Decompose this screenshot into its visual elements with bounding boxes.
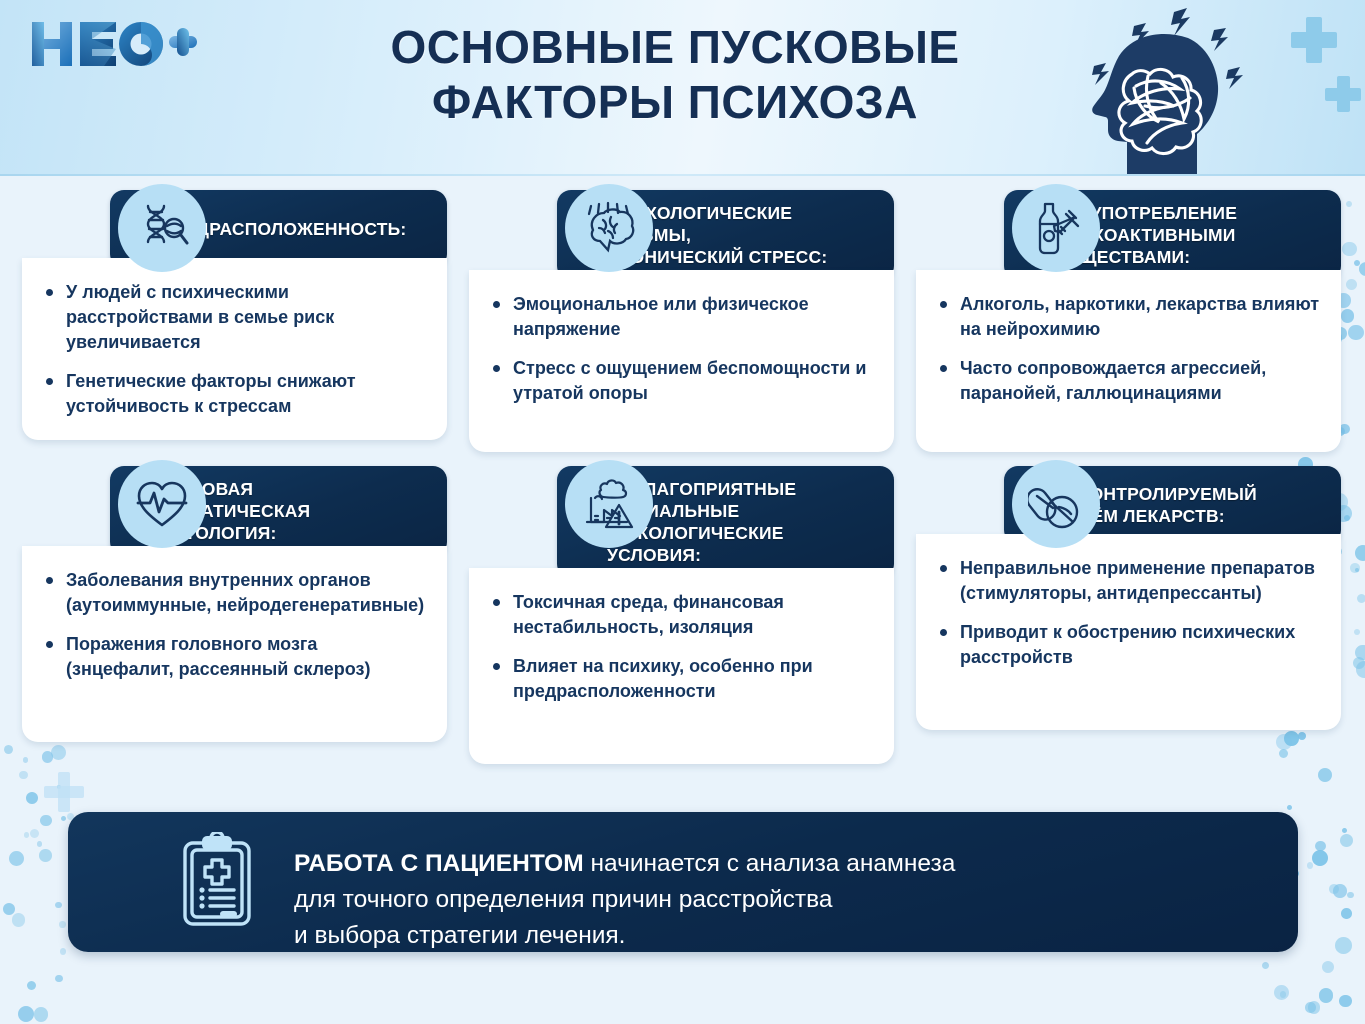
list-item: Алкоголь, наркотики, лекарства влияют на… — [934, 292, 1323, 342]
head-with-tangled-thoughts-icon — [1070, 2, 1260, 176]
banner-lead-text: РАБОТА С ПАЦИЕНТОМ — [294, 850, 584, 877]
decorative-plus-icon — [1337, 76, 1350, 112]
decorative-dot — [1312, 850, 1328, 866]
clipboard-medical-icon — [178, 832, 256, 933]
decorative-dot — [1318, 768, 1332, 782]
list-item: Эмоциональное или физическое напряжение — [487, 292, 876, 342]
factor-card: ПСИХОЛОГИЧЕСКИЕ ТРАВМЫ, ХРОНИЧЕСКИЙ СТРЕ… — [469, 190, 894, 452]
card-body: Заболевания внутренних органов (аутоимму… — [22, 546, 447, 742]
factor-card: ФОНОВАЯ СОМАТИЧЕСКАЯ ПАТОЛОГИЯ: Заболева… — [22, 466, 447, 764]
bullet-list: Эмоциональное или физическое напряжение … — [487, 292, 876, 406]
decorative-dot — [19, 771, 28, 780]
decorative-dot — [55, 975, 62, 982]
page-title-line-1: ОСНОВНЫЕ ПУСКОВЫЕ — [330, 20, 1020, 75]
decorative-dot — [59, 921, 65, 927]
list-item: Часто сопровождается агрессией, паранойе… — [934, 356, 1323, 406]
bullet-list: Неправильное применение препаратов (стим… — [934, 556, 1323, 670]
card-header: ФОНОВАЯ СОМАТИЧЕСКАЯ ПАТОЛОГИЯ: — [110, 466, 447, 556]
decorative-dot — [1322, 961, 1334, 973]
factor-card: НЕБЛАГОПРИЯТНЫЕ СОЦИАЛЬНЫЕ И ЭКОЛОГИЧЕСК… — [469, 466, 894, 764]
factor-card: ЗЛОУПОТРЕБЛЕНИЕ ПСИХОАКТИВНЫМИ ВЕЩЕСТВАМ… — [916, 190, 1341, 452]
bullet-list: У людей с психическими расстройствами в … — [40, 280, 429, 419]
decorative-dot — [30, 829, 39, 838]
list-item: У людей с психическими расстройствами в … — [40, 280, 429, 355]
decorative-dot — [1280, 991, 1286, 997]
page-title: ОСНОВНЫЕ ПУСКОВЫЕ ФАКТОРЫ ПСИХОЗА — [330, 20, 1020, 130]
list-item: Поражения головного мозга (знцефалит, ра… — [40, 632, 429, 682]
list-item: Влияет на психику, особенно при предрасп… — [487, 654, 876, 704]
bullet-list: Заболевания внутренних органов (аутоимму… — [40, 568, 429, 682]
decorative-dot — [27, 981, 37, 991]
list-item: Заболевания внутренних органов (аутоимму… — [40, 568, 429, 618]
decorative-dot — [1342, 828, 1347, 833]
bullet-list: Токсичная среда, финансовая нестабильнос… — [487, 590, 876, 704]
decorative-dot — [3, 903, 15, 915]
dna-magnifier-icon — [118, 184, 206, 272]
card-body: У людей с психическими расстройствами в … — [22, 258, 447, 440]
decorative-dot — [1347, 892, 1354, 899]
decorative-plus-icon — [58, 772, 71, 812]
list-item: Генетические факторы снижают устойчивост… — [40, 369, 429, 419]
card-body: Эмоциональное или физическое напряжение … — [469, 270, 894, 452]
factor-cards-grid: ПРЕДРАСПОЛОЖЕННОСТЬ: У людей с психическ… — [0, 190, 1365, 764]
decorative-dot — [24, 832, 29, 837]
card-header: НЕБЛАГОПРИЯТНЫЕ СОЦИАЛЬНЫЕ И ЭКОЛОГИЧЕСК… — [557, 466, 894, 578]
header-divider — [0, 174, 1365, 176]
factor-card: ПРЕДРАСПОЛОЖЕННОСТЬ: У людей с психическ… — [22, 190, 447, 452]
list-item: Токсичная среда, финансовая нестабильнос… — [487, 590, 876, 640]
decorative-dot — [34, 1007, 49, 1022]
list-item: Неправильное применение препаратов (стим… — [934, 556, 1323, 606]
decorative-dot — [1329, 884, 1339, 894]
card-header: ПСИХОЛОГИЧЕСКИЕ ТРАВМЫ, ХРОНИЧЕСКИЙ СТРЕ… — [557, 190, 894, 280]
factory-warning-icon — [565, 460, 653, 548]
decorative-dot — [37, 841, 43, 847]
decorative-dot — [1335, 937, 1352, 954]
decorative-dot — [1315, 841, 1325, 851]
card-header: ЗЛОУПОТРЕБЛЕНИЕ ПСИХОАКТИВНЫМИ ВЕЩЕСТВАМ… — [1004, 190, 1341, 280]
card-body: Токсичная среда, финансовая нестабильнос… — [469, 568, 894, 764]
decorative-dot — [1319, 988, 1333, 1002]
summary-banner: РАБОТА С ПАЦИЕНТОМ начинается с анализа … — [68, 812, 1298, 952]
decorative-dot — [1340, 834, 1353, 847]
decorative-dot — [26, 792, 38, 804]
decorative-dot — [9, 851, 24, 866]
brand-logo — [28, 16, 198, 78]
decorative-dot — [55, 902, 61, 908]
decorative-dot — [40, 815, 52, 827]
decorative-plus-icon — [1306, 17, 1322, 63]
bottle-syringe-icon — [1012, 184, 1100, 272]
decorative-dot — [1287, 805, 1292, 810]
card-header: НЕКОНТРОЛИРУЕМЫЙ ПРИЁМ ЛЕКАРСТВ: — [1004, 466, 1341, 544]
decorative-dot — [39, 849, 52, 862]
heart-pulse-icon — [118, 460, 206, 548]
decorative-dot — [60, 948, 66, 954]
decorative-dot — [1262, 962, 1269, 969]
list-item: Стресс с ощущением беспомощности и утрат… — [487, 356, 876, 406]
stressed-brain-icon — [565, 184, 653, 272]
card-body: Неправильное применение препаратов (стим… — [916, 534, 1341, 730]
card-header: ПРЕДРАСПОЛОЖЕННОСТЬ: — [110, 190, 447, 268]
decorative-dot — [1341, 908, 1352, 919]
page-title-line-2: ФАКТОРЫ ПСИХОЗА — [330, 75, 1020, 130]
decorative-dot — [1339, 995, 1352, 1008]
decorative-dot — [18, 1006, 34, 1022]
decorative-dot — [61, 816, 66, 821]
pills-icon — [1012, 460, 1100, 548]
decorative-dot — [1307, 862, 1314, 869]
page-header: ОСНОВНЫЕ ПУСКОВЫЕ ФАКТОРЫ ПСИХОЗА — [0, 0, 1365, 176]
list-item: Приводит к обострению психических расстр… — [934, 620, 1323, 670]
factor-card: НЕКОНТРОЛИРУЕМЫЙ ПРИЁМ ЛЕКАРСТВ: Неправи… — [916, 466, 1341, 764]
bullet-list: Алкоголь, наркотики, лекарства влияют на… — [934, 292, 1323, 406]
decorative-dot — [12, 913, 25, 926]
banner-text: РАБОТА С ПАЦИЕНТОМ начинается с анализа … — [294, 810, 955, 954]
card-body: Алкоголь, наркотики, лекарства влияют на… — [916, 270, 1341, 452]
